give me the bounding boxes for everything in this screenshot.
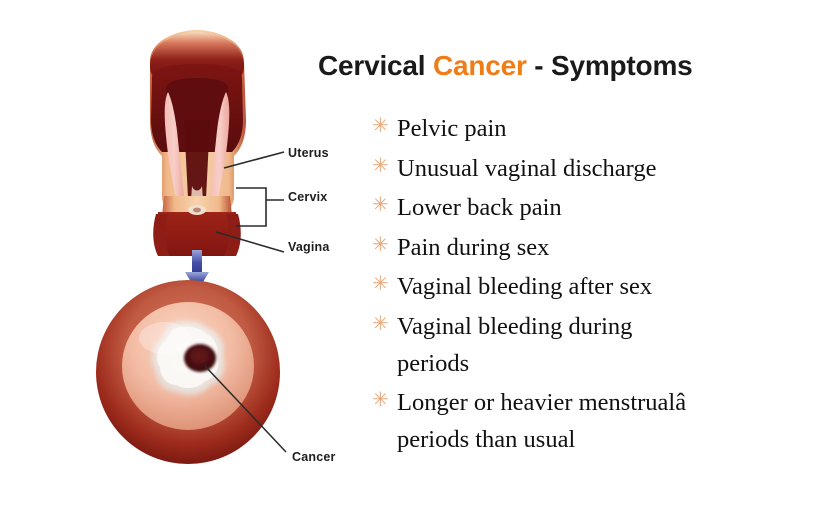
- label-cancer: Cancer: [292, 450, 336, 464]
- symptom-text: Vaginal bleeding after sex: [397, 273, 652, 300]
- symptom-text: Pain during sex: [397, 234, 549, 261]
- symptom-text: Pelvic pain: [397, 115, 507, 142]
- asterisk-bullet-icon: ✳: [372, 111, 389, 141]
- cervix-closeup: [96, 280, 280, 464]
- symptom-list: ✳Pelvic pain✳Unusual vaginal discharge✳L…: [370, 110, 830, 461]
- asterisk-bullet-icon: ✳: [372, 385, 389, 415]
- asterisk-bullet-icon: ✳: [372, 151, 389, 181]
- uterus-cross-section: [150, 30, 246, 256]
- title-part-1: Cervical: [318, 50, 433, 81]
- title-part-2: - Symptoms: [527, 50, 693, 81]
- symptom-item: ✳Lower back pain: [370, 189, 830, 226]
- label-cervix: Cervix: [288, 190, 327, 204]
- asterisk-bullet-icon: ✳: [372, 269, 389, 299]
- symptom-item: ✳Vaginal bleeding after sex: [370, 268, 830, 305]
- label-uterus: Uterus: [288, 146, 329, 160]
- symptom-text: Unusual vaginal discharge: [397, 155, 656, 182]
- title-accent-cancer: Cancer: [433, 50, 527, 81]
- symptom-item: ✳Pain during sex: [370, 229, 830, 266]
- page-title: Cervical Cancer - Symptoms: [318, 50, 693, 82]
- symptom-item: ✳Vaginal bleeding during periods: [370, 308, 830, 382]
- infographic-page: Uterus Cervix Vagina Cancer Cervical Can…: [0, 0, 830, 511]
- asterisk-bullet-icon: ✳: [372, 309, 389, 339]
- asterisk-bullet-icon: ✳: [372, 190, 389, 220]
- symptom-text: Lower back pain: [397, 194, 562, 221]
- symptom-text: Vaginal bleeding during periods: [397, 313, 632, 377]
- asterisk-bullet-icon: ✳: [372, 230, 389, 260]
- symptom-text: Longer or heavier menstrualâ periods tha…: [397, 389, 686, 453]
- symptom-item: ✳Pelvic pain: [370, 110, 830, 147]
- label-vagina: Vagina: [288, 240, 330, 254]
- symptom-item: ✳Unusual vaginal discharge: [370, 150, 830, 187]
- cervical-anatomy-illustration: Uterus Cervix Vagina Cancer: [0, 0, 370, 511]
- symptom-item: ✳Longer or heavier menstrualâ periods th…: [370, 384, 830, 458]
